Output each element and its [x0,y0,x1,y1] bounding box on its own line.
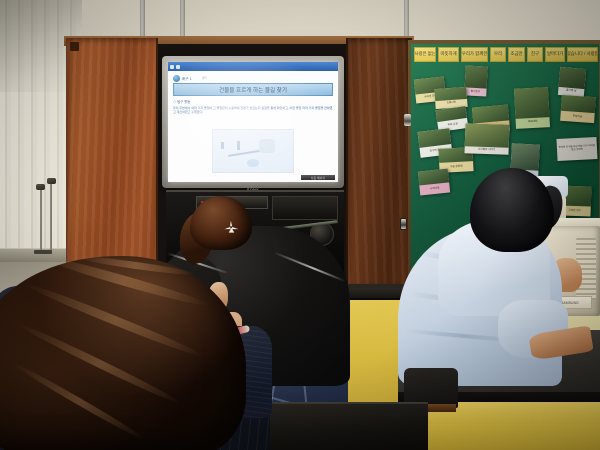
slide-logo-text: 화구 1 [182,76,192,81]
television: 화구 1 과학 건물을 흐르게 하는 물길 찾기 ◇ 탐구 활동 우리 주변에서… [162,56,344,188]
diagram-line [237,141,240,150]
yellow-panel-front-lower [398,424,600,450]
slide-title: 건물을 흐르게 하는 물길 찾기 [173,83,333,96]
slide-subtitle: ◇ 탐구 활동 [173,99,333,104]
stand-head [36,184,45,190]
board-clip-icon [404,114,411,126]
diagram-shape [259,139,275,153]
av-cassette-slot[interactable] [272,196,338,220]
cabinet-door-left[interactable] [66,38,158,290]
diagram-line [221,142,224,149]
wall-pipe-icon [140,0,145,38]
stand-base [34,250,52,254]
stand-head [47,178,56,184]
stand-rod [40,188,42,252]
adidas-trefoil-icon [223,220,240,234]
window-title-bar [168,62,338,71]
hinge-icon [70,42,79,51]
tv-screen: 화구 1 과학 건물을 흐르게 하는 물길 찾기 ◇ 탐구 활동 우리 주변에서… [168,62,338,182]
diagram-shape [247,159,260,167]
cabinet-door-right[interactable] [346,38,412,294]
classroom-photo-scene: 화구 1 과학 건물을 흐르게 하는 물길 찾기 ◇ 탐구 활동 우리 주변에서… [0,0,600,450]
slide-body-text: 우리 주변에서 여러 가지 물질이 그 물질만이 수용액에 전류가 흐르는지 실… [173,106,333,115]
slide-logo: 화구 1 과학 [173,75,333,82]
window-button-icon [170,65,174,69]
slide-next-button[interactable]: 다음 페이지 [301,175,335,180]
logo-dot-icon [173,75,180,82]
slide-logo-sub: 과학 [202,76,207,80]
window-button-icon [176,65,180,69]
stand-rod [50,182,52,252]
door-latch-icon[interactable] [400,218,407,230]
student-right-head [470,168,554,252]
presentation-slide: 화구 1 과학 건물을 흐르게 하는 물길 찾기 ◇ 탐구 활동 우리 주변에서… [168,71,338,182]
slide-diagram [212,129,294,173]
wall-pipe-icon [180,0,185,40]
